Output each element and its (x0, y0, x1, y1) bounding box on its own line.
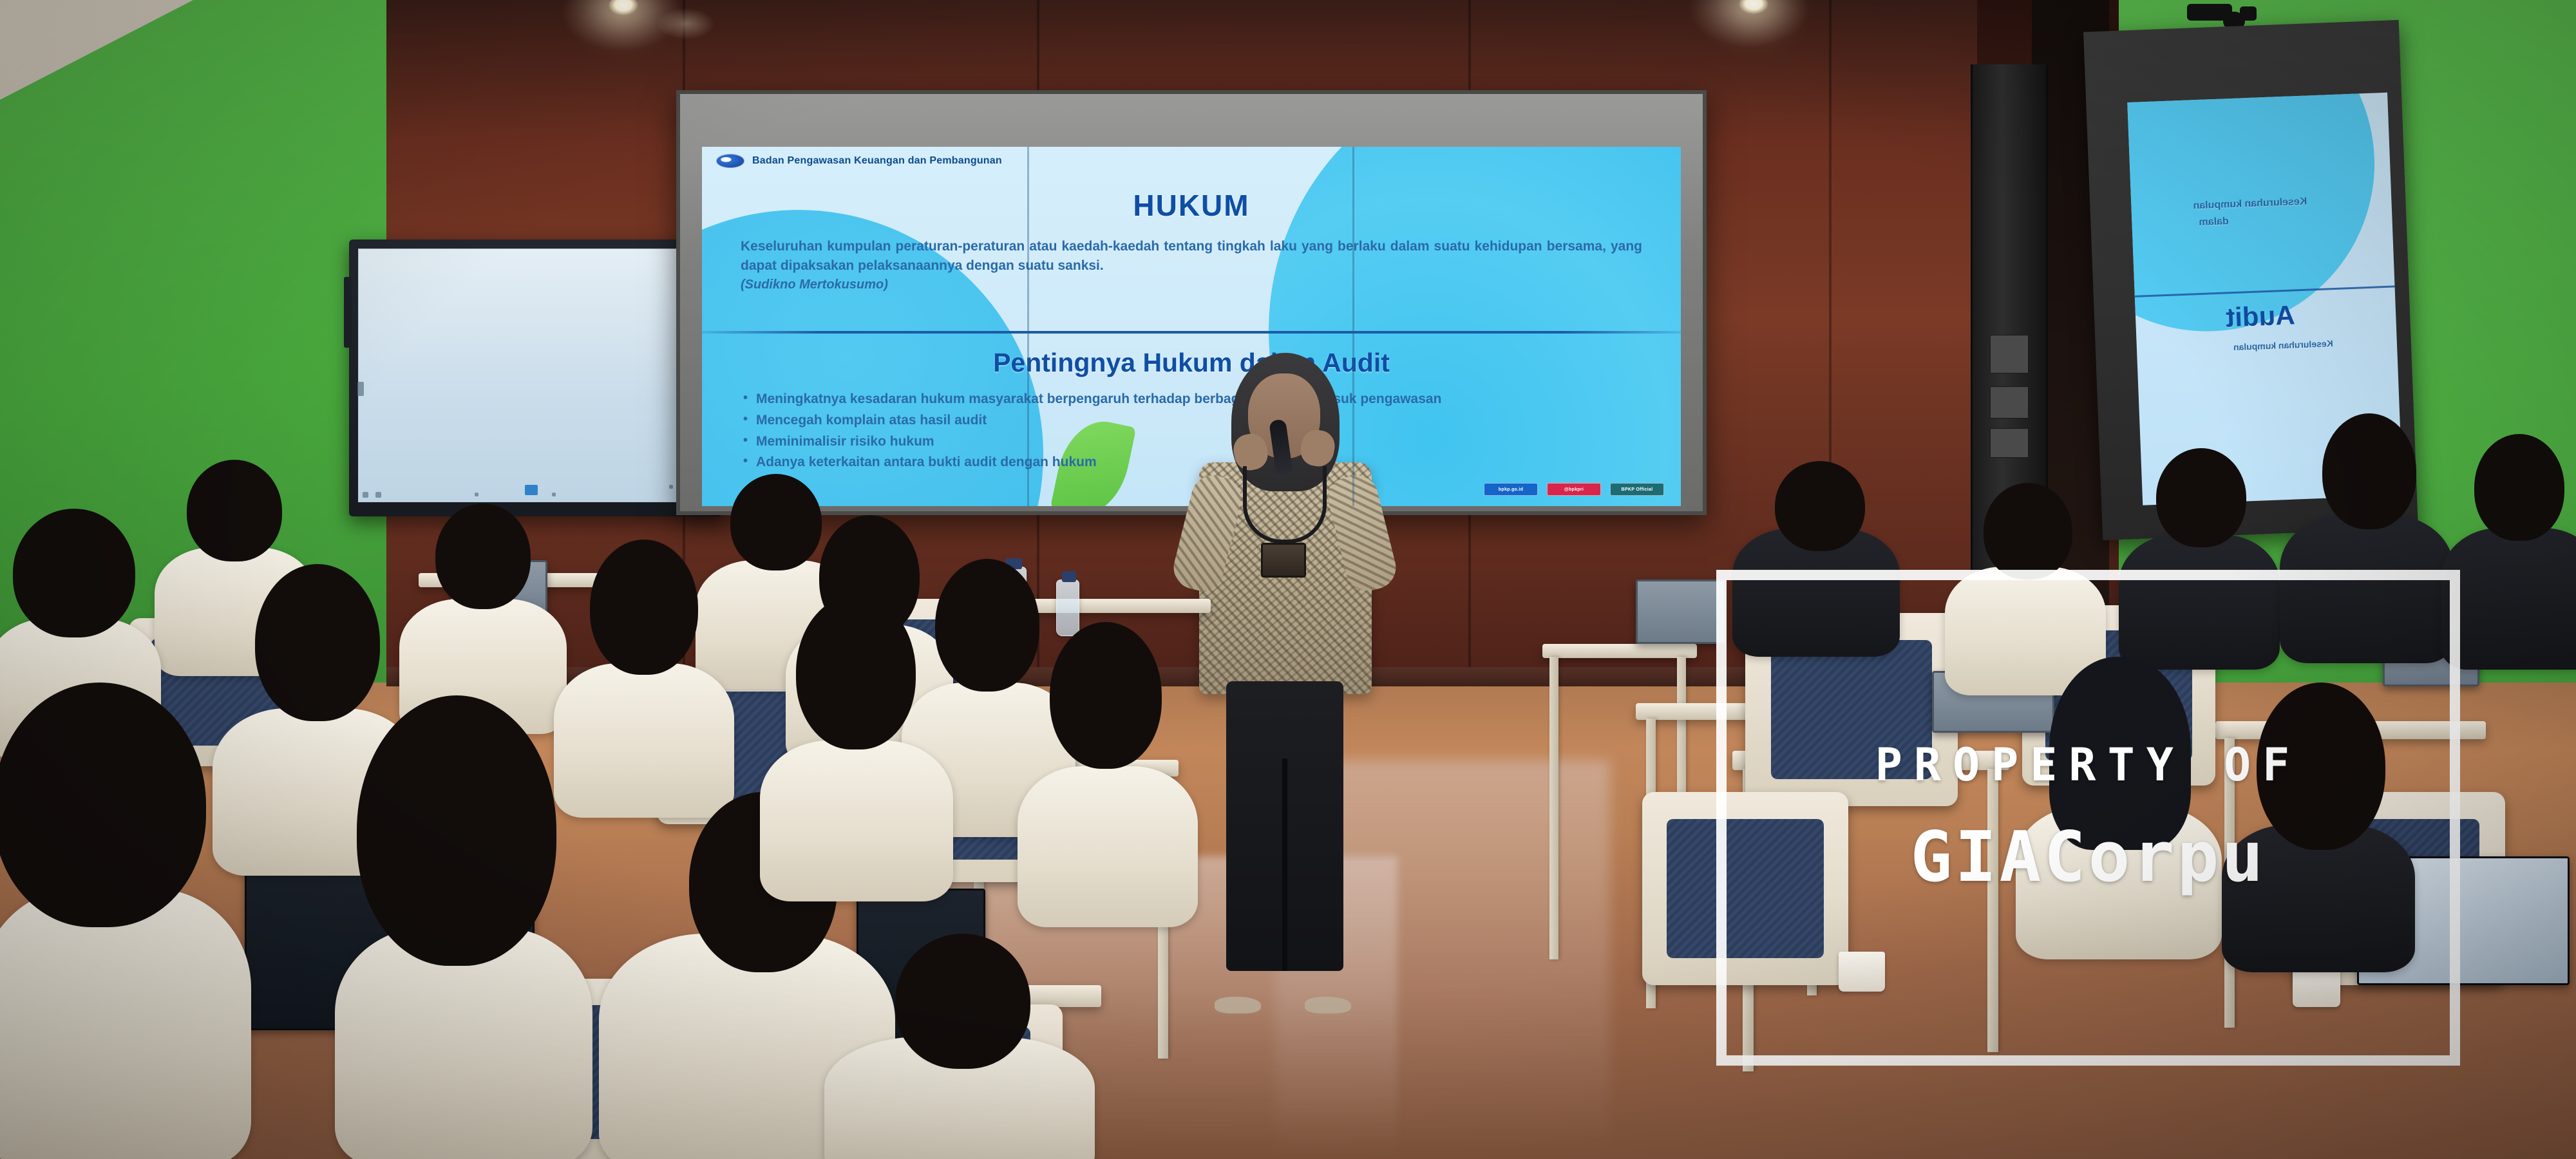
attendee (0, 683, 251, 1159)
whiteboard-app-icon[interactable] (525, 485, 538, 495)
monitor-text-line-2: dalam (2199, 216, 2229, 229)
slide-header: Badan Pengawasan Keuangan dan Pembanguna… (702, 147, 1681, 175)
monitor-text-line-3: Keseluruhan kumpulan (2233, 338, 2333, 352)
status-badge: @bpkpri (1547, 483, 1601, 496)
attendee (399, 496, 567, 702)
presenter-shoe-left (1215, 997, 1261, 1013)
interactive-whiteboard[interactable] (349, 240, 723, 516)
lanyard (1243, 466, 1327, 543)
monitor-text-audit: Audit (2225, 299, 2295, 333)
presenter (1179, 353, 1391, 1010)
slide-definition-text: Keseluruhan kumpulan peraturan-peraturan… (741, 237, 1642, 276)
attendee (2441, 425, 2576, 657)
status-badge: bpkp.go.id (1484, 483, 1538, 496)
slide-social-badges: bpkp.go.id @bpkpri BPKP Official (1484, 483, 1664, 496)
classroom-photo: Badan Pengawasan Keuangan dan Pembanguna… (0, 0, 2576, 1159)
attendee (1945, 470, 2106, 676)
attendee (1018, 618, 1198, 889)
attendee (2119, 438, 2280, 650)
slide-source-citation: (Sudikno Mertokusumo) (741, 278, 1642, 292)
table (1542, 644, 1697, 658)
attendee (824, 934, 1095, 1159)
presenter-shoe-right (1305, 997, 1351, 1013)
slide-title: HUKUM (741, 188, 1642, 223)
attendee (2280, 406, 2454, 650)
attendee (1732, 451, 1900, 644)
status-badge: BPKP Official (1610, 483, 1664, 496)
slide-top-section: HUKUM Keseluruhan kumpulan peraturan-per… (702, 178, 1681, 327)
whiteboard-side-handle (344, 277, 352, 348)
presenter-trousers (1226, 681, 1343, 971)
attendee (760, 592, 953, 863)
attendee (2016, 657, 2222, 940)
slide-org-name: Badan Pengawasan Keuangan dan Pembanguna… (752, 155, 1002, 167)
id-badge (1261, 543, 1306, 578)
attendee (335, 695, 592, 1159)
slide-divider (702, 331, 1681, 334)
chair (1642, 792, 1848, 985)
attendee (2222, 683, 2415, 953)
mug (1839, 952, 1885, 992)
whiteboard-screen[interactable] (358, 249, 714, 502)
bpkp-logo-icon (716, 154, 744, 168)
laptop[interactable] (1636, 579, 1726, 644)
